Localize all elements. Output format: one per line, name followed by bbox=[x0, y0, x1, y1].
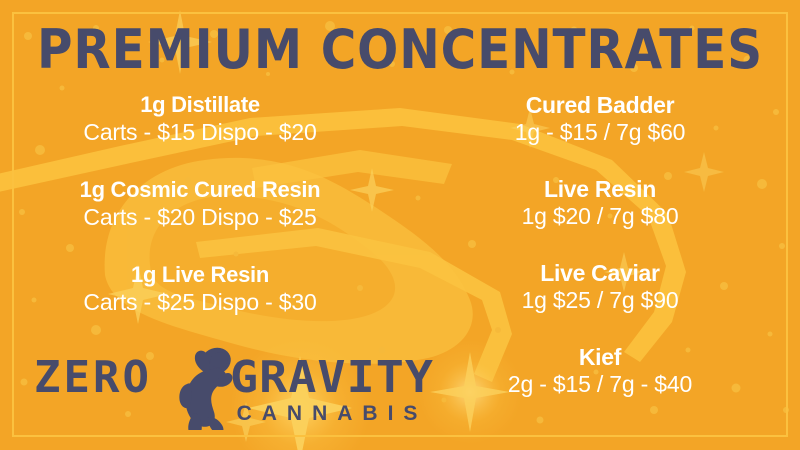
brand-logo: ZERO GRAVITY bbox=[34, 340, 434, 430]
menu-item-price: 2g - $15 / 7g - $40 bbox=[414, 370, 786, 399]
astronaut-icon bbox=[179, 344, 234, 430]
menu-item: Live Caviar 1g $25 / 7g $90 bbox=[414, 260, 786, 315]
poster-title: PREMIUM CONCENTRATES bbox=[0, 18, 800, 80]
promo-poster: PREMIUM CONCENTRATES 1g Distillate Carts… bbox=[0, 0, 800, 450]
menu-item-name: 1g Cosmic Cured Resin bbox=[18, 177, 382, 203]
title-artwork: PREMIUM CONCENTRATES bbox=[30, 18, 770, 80]
logo-word-one: ZERO bbox=[34, 352, 152, 403]
menu-item-name: 1g Distillate bbox=[18, 92, 382, 118]
logo-artwork: ZERO GRAVITY bbox=[34, 340, 434, 430]
menu-item-name: 1g Live Resin bbox=[18, 262, 382, 288]
menu-item: 1g Cosmic Cured Resin Carts - $20 Dispo … bbox=[18, 177, 382, 232]
menu-item: Kief 2g - $15 / 7g - $40 bbox=[414, 344, 786, 399]
logo-tagline: CANNABIS bbox=[237, 402, 428, 425]
menu-item: 1g Live Resin Carts - $25 Dispo - $30 bbox=[18, 262, 382, 317]
menu-item-name: Kief bbox=[414, 344, 786, 370]
menu-item-price: 1g $25 / 7g $90 bbox=[414, 286, 786, 315]
menu-item-price: 1g - $15 / 7g $60 bbox=[414, 118, 786, 147]
menu-item-name: Cured Badder bbox=[414, 92, 786, 118]
menu-item-name: Live Resin bbox=[414, 176, 786, 202]
logo-word-two: GRAVITY bbox=[230, 352, 434, 403]
menu-item: Cured Badder 1g - $15 / 7g $60 bbox=[414, 92, 786, 147]
menu-item: Live Resin 1g $20 / 7g $80 bbox=[414, 176, 786, 231]
menu-item-name: Live Caviar bbox=[414, 260, 786, 286]
menu-item-price: Carts - $20 Dispo - $25 bbox=[18, 203, 382, 232]
page-title: PREMIUM CONCENTRATES bbox=[37, 18, 763, 80]
menu-item-price: 1g $20 / 7g $80 bbox=[414, 202, 786, 231]
menu-item-price: Carts - $25 Dispo - $30 bbox=[18, 288, 382, 317]
menu-item: 1g Distillate Carts - $15 Dispo - $20 bbox=[18, 92, 382, 147]
menu-column-right: Cured Badder 1g - $15 / 7g $60 Live Resi… bbox=[400, 92, 800, 399]
menu-item-price: Carts - $15 Dispo - $20 bbox=[18, 118, 382, 147]
